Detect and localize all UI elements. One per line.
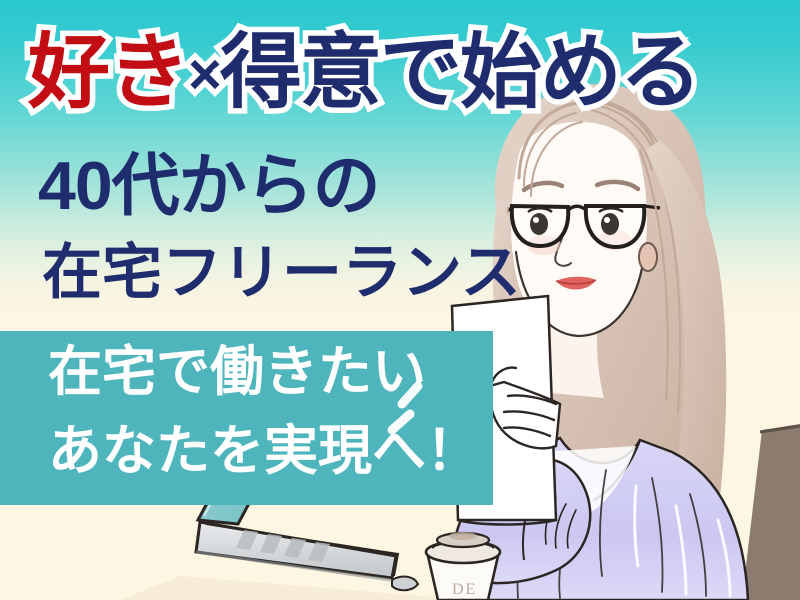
headline-times-symbol: × bbox=[188, 42, 220, 107]
page-title: 好き×得意で始める bbox=[28, 32, 700, 114]
callout-line-1: 在宅で働きたい bbox=[48, 345, 426, 399]
headline-segment-navy: 得意で始める bbox=[220, 27, 700, 118]
promo-banner: DE 好き×得意で始める 40代からの 在宅フリーランス 在宅で働きたい あなた… bbox=[0, 0, 800, 600]
subheadline-line-2: 在宅フリーランス bbox=[42, 243, 521, 303]
headline-segment-red: 好き bbox=[28, 27, 188, 118]
subheadline-line-1: 40代からの bbox=[38, 152, 380, 220]
callout-line-2: あなたを実現へ！ bbox=[48, 424, 480, 478]
